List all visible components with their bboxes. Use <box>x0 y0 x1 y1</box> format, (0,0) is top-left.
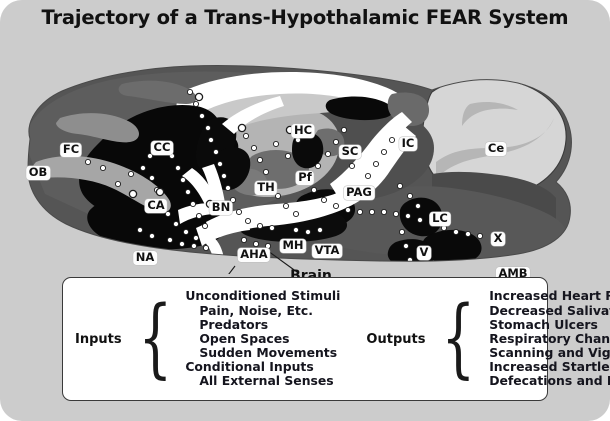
brain-label-v: V <box>417 246 431 260</box>
brain-label-vta: VTA <box>312 244 342 258</box>
brain-label-bn: BN <box>209 201 232 215</box>
inputs-brace: { <box>138 308 172 370</box>
io-list-item: Pain, Noise, Etc. <box>185 304 340 318</box>
brain-label-ce: Ce <box>485 142 506 156</box>
io-list-item: Decreased Salivation <box>489 304 610 318</box>
io-list-item: Scanning and Vigilance <box>489 346 610 360</box>
brain-label-na: NA <box>133 251 157 265</box>
brain-label-lc: LC <box>430 212 451 226</box>
brain-label-ob: OB <box>26 166 50 180</box>
brain-label-th: TH <box>255 181 277 195</box>
brain-label-fc: FC <box>60 143 81 157</box>
figure-title: Trajectory of a Trans-Hypothalamic FEAR … <box>0 6 610 29</box>
inputs-list: Unconditioned StimuliPain, Noise, Etc.Pr… <box>185 289 340 388</box>
io-list-item: Open Spaces <box>185 332 340 346</box>
io-list-item: Respiratory Changes <box>489 332 610 346</box>
io-panel: Inputs { Unconditioned StimuliPain, Nois… <box>62 277 548 401</box>
brain-label-sc: SC <box>339 145 361 159</box>
io-list-item: Unconditioned Stimuli <box>185 289 340 303</box>
io-list-item: Defecations and Freezing <box>489 374 610 388</box>
brain-label-aha: AHA <box>238 248 270 262</box>
vafp-leader-line <box>216 266 235 274</box>
brain-label-mh: MH <box>280 239 306 253</box>
io-list-item: Predators <box>185 318 340 332</box>
outputs-title: Outputs <box>366 332 425 347</box>
brain-label-ic: IC <box>399 137 417 151</box>
figure-frame: Trajectory of a Trans-Hypothalamic FEAR … <box>0 0 610 421</box>
brain-label-hc: HC <box>291 124 314 138</box>
io-list-item: Conditional Inputs <box>185 360 340 374</box>
inputs-title: Inputs <box>75 332 122 347</box>
outputs-list: Increased Heart RateDecreased Salivation… <box>489 289 610 388</box>
outputs-brace: { <box>442 308 476 370</box>
io-list-item: Increased Startle <box>489 360 610 374</box>
io-list-item: Sudden Movements <box>185 346 340 360</box>
brain-label-x: X <box>491 232 505 246</box>
io-list-item: All External Senses <box>185 374 340 388</box>
io-list-item: Stomach Ulcers <box>489 318 610 332</box>
brain-label-ca: CA <box>145 199 167 213</box>
brain-label-cc: CC <box>151 141 173 155</box>
brain-label-pag: PAG <box>344 186 375 200</box>
inputs-group: Inputs { Unconditioned StimuliPain, Nois… <box>75 289 340 388</box>
outputs-group: Outputs { Increased Heart RateDecreased … <box>366 289 610 388</box>
io-list-item: Increased Heart Rate <box>489 289 610 303</box>
brain-label-pf: Pf <box>296 171 314 185</box>
